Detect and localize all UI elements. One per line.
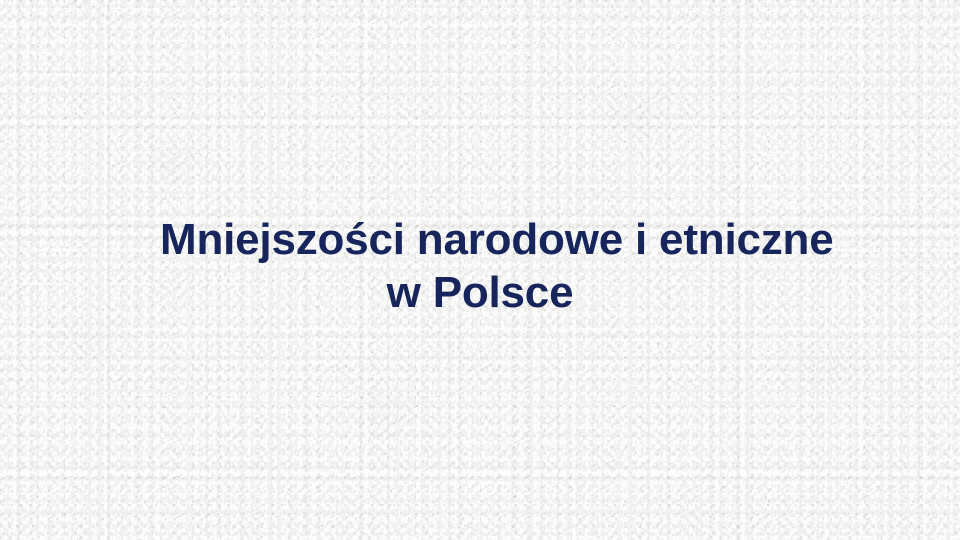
slide-title-line-1: Mniejszości narodowe i etniczne — [160, 213, 800, 266]
title-slide: Mniejszości narodowe i etniczne w Polsce — [0, 0, 960, 540]
slide-title: Mniejszości narodowe i etniczne w Polsce — [160, 213, 800, 319]
slide-title-line-2: w Polsce — [160, 266, 800, 319]
